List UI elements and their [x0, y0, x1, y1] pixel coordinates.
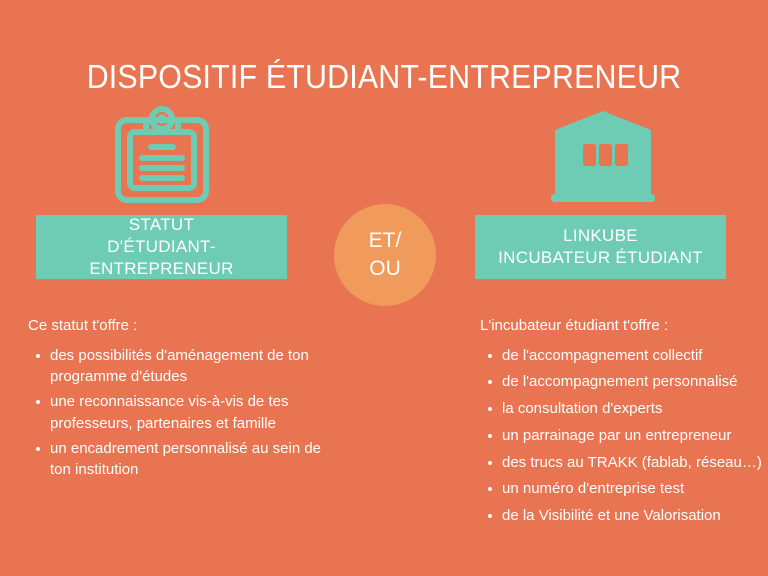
- list-item: un numéro d'entreprise test: [480, 478, 768, 500]
- linkube-label-box[interactable]: LINKUBE INCUBATEUR ÉTUDIANT: [475, 215, 726, 279]
- list-item: de la Visibilité et une Valorisation: [480, 505, 768, 527]
- list-item: une reconnaissance vis-à-vis de tes prof…: [28, 391, 328, 435]
- list-item: un encadrement personnalisé au sein de t…: [28, 438, 328, 482]
- list-item: de l'accompagnement collectif: [480, 345, 768, 367]
- linkube-intro-text: L'incubateur étudiant t'offre :: [480, 316, 768, 336]
- clipboard-icon: [112, 106, 212, 206]
- list-item: la consultation d'experts: [480, 398, 768, 420]
- list-item: des possibilités d'aménagement de ton pr…: [28, 345, 328, 389]
- connector-line-1: ET/: [369, 227, 402, 255]
- page-title: DISPOSITIF ÉTUDIANT-ENTREPRENEUR: [31, 58, 738, 96]
- list-item: des trucs au TRAKK (fablab, réseau…): [480, 452, 768, 474]
- statut-intro-text: Ce statut t'offre :: [28, 316, 328, 336]
- icon-row: ET/ OU: [0, 100, 768, 210]
- linkube-box-line-2: INCUBATEUR ÉTUDIANT: [498, 247, 703, 269]
- statut-box-line-2: D'ÉTUDIANT-ENTREPRENEUR: [36, 236, 287, 280]
- linkube-benefits-column: L'incubateur étudiant t'offre : de l'acc…: [480, 316, 768, 532]
- et-ou-connector: ET/ OU: [334, 204, 436, 306]
- connector-line-2: OU: [369, 255, 401, 283]
- poster-canvas: DISPOSITIF ÉTUDIANT-ENTREPRENEUR: [0, 0, 768, 576]
- building-icon: [548, 108, 658, 204]
- list-item: de l'accompagnement personnalisé: [480, 371, 768, 393]
- linkube-box-line-1: LINKUBE: [563, 225, 638, 247]
- list-item: un parrainage par un entrepreneur: [480, 425, 768, 447]
- statut-bullet-list: des possibilités d'aménagement de ton pr…: [28, 345, 328, 482]
- statut-box-line-1: STATUT: [129, 214, 194, 236]
- statut-benefits-column: Ce statut t'offre : des possibilités d'a…: [28, 316, 328, 484]
- linkube-bullet-list: de l'accompagnement collectifde l'accomp…: [480, 345, 768, 527]
- statut-label-box[interactable]: STATUT D'ÉTUDIANT-ENTREPRENEUR: [36, 215, 287, 279]
